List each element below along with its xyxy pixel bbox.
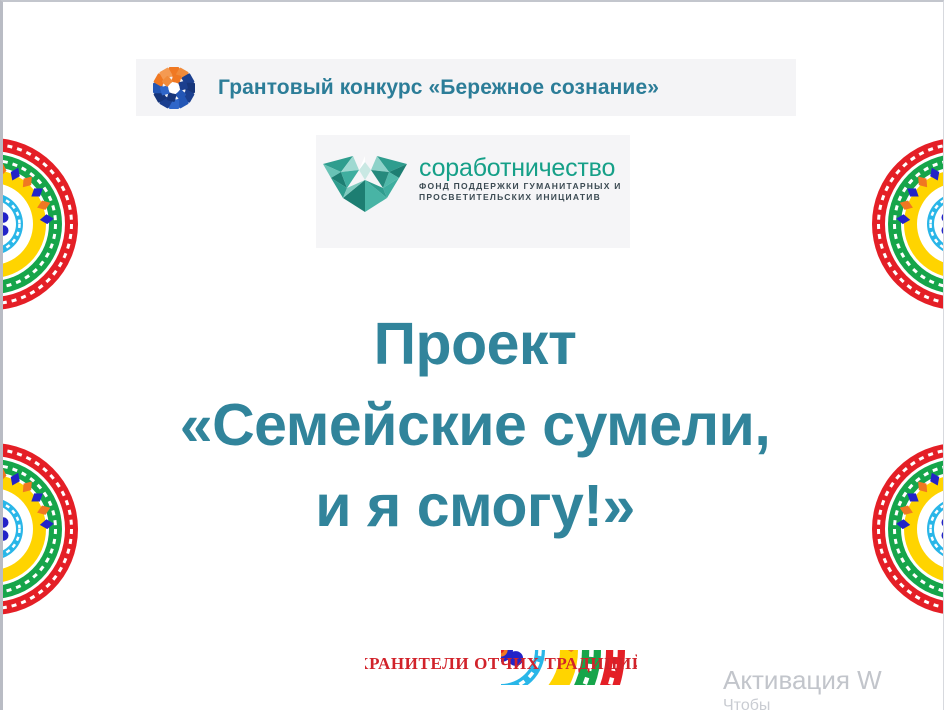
presentation-slide: Грантовый конкурс «Бережное сознание» — [0, 0, 944, 710]
fund-logo: соработничество ФОНД ПОДДЕРЖКИ ГУМАНИТАР… — [319, 142, 622, 218]
header-title: Грантовый конкурс «Бережное сознание» — [218, 76, 659, 100]
mosaic-ring-icon — [148, 62, 200, 114]
watermark-line-1: Активация W — [723, 664, 943, 697]
windows-activation-watermark: Активация W Чтобы — [723, 664, 943, 710]
fund-wordmark: соработничество — [419, 154, 615, 182]
fund-logo-text: соработничество ФОНД ПОДДЕРЖКИ ГУМАНИТАР… — [419, 142, 622, 203]
title-line-1: Проект — [3, 304, 944, 385]
watermark-line-2: Чтобы — [723, 696, 943, 710]
rainbow-arc-left-bottom-ornament — [3, 440, 81, 618]
header-row: Грантовый конкурс «Бережное сознание» — [148, 61, 659, 115]
emblem-text: ХРАНИТЕЛИ ОТЧИХ ТРАДИЦИЙ — [365, 654, 637, 673]
keepers-of-traditions-emblem: ХРАНИТЕЛИ ОТЧИХ ТРАДИЦИЙ — [365, 525, 637, 685]
origami-diamond-icon — [319, 142, 411, 218]
rainbow-arc-left-top-ornament — [3, 135, 81, 313]
rainbow-arc-right-bottom-ornament — [869, 440, 944, 618]
fund-tagline-line2: ПРОСВЕТИТЕЛЬСКИХ ИНИЦИАТИВ — [419, 192, 622, 203]
page-title: Проект «Семейские сумели, и я смогу!» — [3, 304, 944, 548]
fund-tagline: ФОНД ПОДДЕРЖКИ ГУМАНИТАРНЫХ И ПРОСВЕТИТЕ… — [419, 181, 622, 203]
rainbow-arc-right-top-ornament — [869, 135, 944, 313]
title-line-2: «Семейские сумели, — [3, 385, 944, 466]
fund-tagline-line1: ФОНД ПОДДЕРЖКИ ГУМАНИТАРНЫХ И — [419, 181, 622, 192]
